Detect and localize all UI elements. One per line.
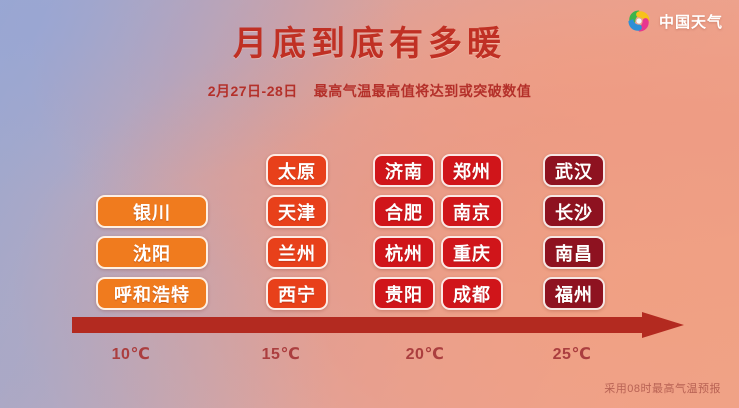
city-badge[interactable]: 济南 bbox=[373, 154, 435, 187]
city-badge[interactable]: 天津 bbox=[266, 195, 328, 228]
city-badge[interactable]: 银川 bbox=[96, 195, 208, 228]
city-column: 贵阳杭州合肥济南 bbox=[373, 154, 435, 310]
city-group-20c: 贵阳杭州合肥济南成都重庆南京郑州 bbox=[373, 154, 503, 310]
city-badge[interactable]: 贵阳 bbox=[373, 277, 435, 310]
city-badge[interactable]: 重庆 bbox=[441, 236, 503, 269]
city-column: 呼和浩特沈阳银川 bbox=[96, 195, 208, 310]
city-column: 成都重庆南京郑州 bbox=[441, 154, 503, 310]
subtitle-text: 最高气温最高值将达到或突破数值 bbox=[314, 83, 532, 99]
city-group-10c: 呼和浩特沈阳银川 bbox=[96, 195, 208, 310]
temperature-axis-arrow bbox=[72, 312, 684, 338]
city-badge[interactable]: 合肥 bbox=[373, 195, 435, 228]
axis-tick-15c: 15℃ bbox=[246, 344, 316, 364]
footer-note: 采用08时最高气温预报 bbox=[604, 380, 721, 396]
city-group-25c: 福州南昌长沙武汉 bbox=[543, 154, 605, 310]
subtitle-date: 2月27日-28日 bbox=[208, 83, 298, 99]
city-badge[interactable]: 福州 bbox=[543, 277, 605, 310]
city-badge[interactable]: 成都 bbox=[441, 277, 503, 310]
axis-tick-25c: 25℃ bbox=[537, 344, 607, 364]
city-badge[interactable]: 呼和浩特 bbox=[96, 277, 208, 310]
city-badge[interactable]: 南京 bbox=[441, 195, 503, 228]
page-subtitle: 2月27日-28日最高气温最高值将达到或突破数值 bbox=[0, 81, 739, 101]
city-badge[interactable]: 郑州 bbox=[441, 154, 503, 187]
city-badge[interactable]: 太原 bbox=[266, 154, 328, 187]
city-badge[interactable]: 杭州 bbox=[373, 236, 435, 269]
city-badge[interactable]: 武汉 bbox=[543, 154, 605, 187]
page-title: 月底到底有多暖 bbox=[0, 16, 739, 65]
city-badge[interactable]: 西宁 bbox=[266, 277, 328, 310]
weather-infographic: 中国天气 月底到底有多暖 2月27日-28日最高气温最高值将达到或突破数值 呼和… bbox=[0, 0, 739, 408]
city-badge[interactable]: 沈阳 bbox=[96, 236, 208, 269]
axis-tick-20c: 20℃ bbox=[390, 344, 460, 364]
city-column: 福州南昌长沙武汉 bbox=[543, 154, 605, 310]
axis-tick-10c: 10℃ bbox=[96, 344, 166, 364]
city-badge[interactable]: 南昌 bbox=[543, 236, 605, 269]
city-badge[interactable]: 兰州 bbox=[266, 236, 328, 269]
city-column: 西宁兰州天津太原 bbox=[266, 154, 328, 310]
city-badge[interactable]: 长沙 bbox=[543, 195, 605, 228]
city-group-15c: 西宁兰州天津太原 bbox=[266, 154, 328, 310]
